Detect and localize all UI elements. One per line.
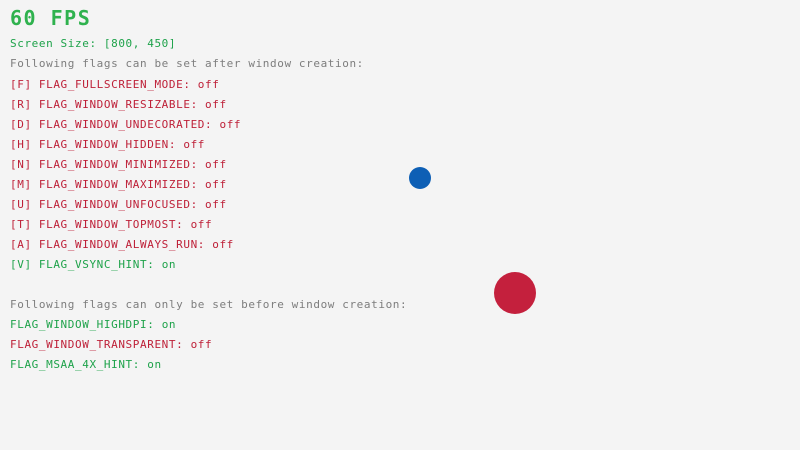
flag-row[interactable]: [R] FLAG_WINDOW_RESIZABLE: off bbox=[10, 99, 227, 110]
creation-flags-heading: Following flags can only be set before w… bbox=[10, 299, 407, 310]
flag-name: FLAG_WINDOW_RESIZABLE: bbox=[39, 98, 205, 111]
flag-row[interactable]: [N] FLAG_WINDOW_MINIMIZED: off bbox=[10, 159, 227, 170]
flag-row[interactable]: [F] FLAG_FULLSCREEN_MODE: off bbox=[10, 79, 219, 90]
ball-red bbox=[494, 272, 536, 314]
flag-row[interactable]: [D] FLAG_WINDOW_UNDECORATED: off bbox=[10, 119, 241, 130]
flag-name: FLAG_VSYNC_HINT: bbox=[39, 258, 162, 271]
raylib-window-canvas: 60 FPS Screen Size: [800, 450] Following… bbox=[0, 0, 800, 450]
flag-state: on bbox=[162, 258, 176, 271]
flag-state: off bbox=[205, 178, 227, 191]
flag-hotkey: [A] bbox=[10, 238, 39, 251]
flag-name: FLAG_WINDOW_TRANSPARENT: bbox=[10, 338, 191, 351]
flag-row[interactable]: [T] FLAG_WINDOW_TOPMOST: off bbox=[10, 219, 212, 230]
flag-state: off bbox=[205, 198, 227, 211]
flag-row: FLAG_MSAA_4X_HINT: on bbox=[10, 359, 162, 370]
flag-state: off bbox=[219, 118, 241, 131]
ball-blue bbox=[409, 167, 431, 189]
flag-hotkey: [H] bbox=[10, 138, 39, 151]
flag-name: FLAG_WINDOW_TOPMOST: bbox=[39, 218, 191, 231]
flag-name: FLAG_WINDOW_HIGHDPI: bbox=[10, 318, 162, 331]
flag-hotkey: [V] bbox=[10, 258, 39, 271]
flag-state: off bbox=[191, 218, 213, 231]
flag-name: FLAG_MSAA_4X_HINT: bbox=[10, 358, 147, 371]
flag-row[interactable]: [V] FLAG_VSYNC_HINT: on bbox=[10, 259, 176, 270]
flag-state: off bbox=[198, 78, 220, 91]
flag-state: off bbox=[183, 138, 205, 151]
flag-row: FLAG_WINDOW_TRANSPARENT: off bbox=[10, 339, 212, 350]
flag-hotkey: [M] bbox=[10, 178, 39, 191]
flag-hotkey: [F] bbox=[10, 78, 39, 91]
flag-state: on bbox=[147, 358, 161, 371]
flag-name: FLAG_WINDOW_UNDECORATED: bbox=[39, 118, 220, 131]
runtime-flags-heading: Following flags can be set after window … bbox=[10, 58, 364, 69]
screen-size-readout: Screen Size: [800, 450] bbox=[10, 38, 176, 49]
flag-row[interactable]: [H] FLAG_WINDOW_HIDDEN: off bbox=[10, 139, 205, 150]
flag-name: FLAG_WINDOW_UNFOCUSED: bbox=[39, 198, 205, 211]
flag-state: on bbox=[162, 318, 176, 331]
flag-name: FLAG_WINDOW_MINIMIZED: bbox=[39, 158, 205, 171]
flag-name: FLAG_FULLSCREEN_MODE: bbox=[39, 78, 198, 91]
flag-state: off bbox=[205, 158, 227, 171]
flag-row[interactable]: [A] FLAG_WINDOW_ALWAYS_RUN: off bbox=[10, 239, 234, 250]
fps-counter: 60 FPS bbox=[10, 8, 91, 28]
flag-row[interactable]: [M] FLAG_WINDOW_MAXIMIZED: off bbox=[10, 179, 227, 190]
flag-hotkey: [T] bbox=[10, 218, 39, 231]
flag-hotkey: [N] bbox=[10, 158, 39, 171]
flag-row: FLAG_WINDOW_HIGHDPI: on bbox=[10, 319, 176, 330]
flag-state: off bbox=[191, 338, 213, 351]
flag-name: FLAG_WINDOW_HIDDEN: bbox=[39, 138, 183, 151]
flag-hotkey: [D] bbox=[10, 118, 39, 131]
flag-hotkey: [U] bbox=[10, 198, 39, 211]
flag-name: FLAG_WINDOW_MAXIMIZED: bbox=[39, 178, 205, 191]
flag-name: FLAG_WINDOW_ALWAYS_RUN: bbox=[39, 238, 212, 251]
flag-state: off bbox=[212, 238, 234, 251]
flag-state: off bbox=[205, 98, 227, 111]
flag-hotkey: [R] bbox=[10, 98, 39, 111]
flag-row[interactable]: [U] FLAG_WINDOW_UNFOCUSED: off bbox=[10, 199, 227, 210]
